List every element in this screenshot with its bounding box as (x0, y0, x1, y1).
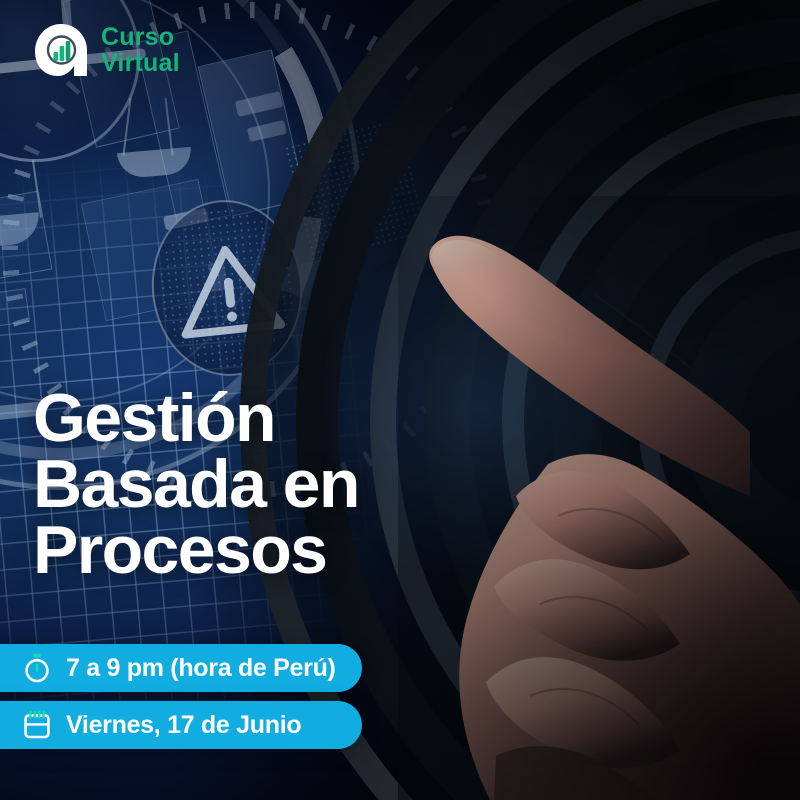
headline-line-1: Gestión (33, 386, 359, 452)
headline-line-2: Basada en (33, 452, 359, 518)
pill-schedule-label: 7 a 9 pm (hora de Perú) (66, 656, 336, 681)
promotional-poster: Curso Virtual Gestión Basada en Procesos… (0, 0, 800, 800)
pill-schedule[interactable]: 7 a 9 pm (hora de Perú) (0, 644, 362, 692)
calendar-icon (22, 710, 52, 740)
pill-date-label: Viernes, 17 de Junio (66, 713, 301, 738)
event-details: 7 a 9 pm (hora de Perú) Viernes, 17 de J… (0, 644, 362, 749)
pill-date[interactable]: Viernes, 17 de Junio (0, 701, 362, 749)
pointing-hand-photo (398, 196, 800, 800)
brand-logo[interactable]: Curso Virtual (33, 22, 180, 78)
a-bar-chart-logo-icon (33, 22, 89, 78)
headline-line-3: Procesos (33, 518, 359, 584)
brand-name-line1: Curso (101, 24, 180, 50)
brand-name: Curso Virtual (101, 24, 180, 76)
brand-name-line2: Virtual (101, 50, 180, 76)
stopwatch-icon (22, 653, 52, 683)
page-title: Gestión Basada en Procesos (33, 386, 359, 584)
